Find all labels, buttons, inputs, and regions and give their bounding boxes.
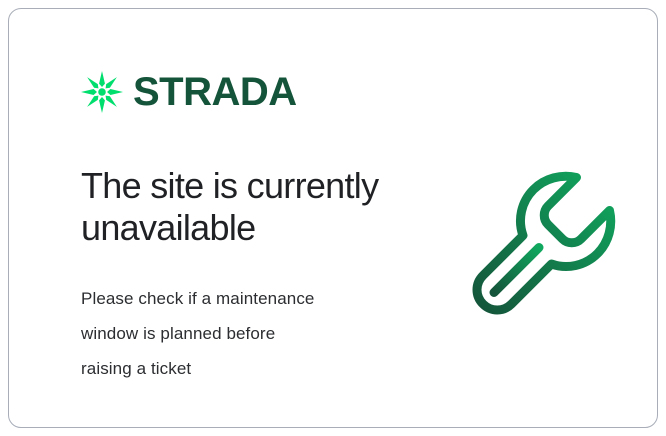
description-line: Please check if a maintenance <box>81 282 391 317</box>
description-line: window is planned before <box>81 317 391 352</box>
brand-logo: STRADA <box>81 69 501 115</box>
wrench-icon <box>461 159 631 329</box>
brand-wordmark: STRADA <box>133 72 297 112</box>
page-description: Please check if a maintenance window is … <box>81 282 391 387</box>
status-card: STRADA The site is currently unavailable… <box>8 8 658 428</box>
page-title: The site is currently unavailable <box>81 165 421 250</box>
description-line: raising a ticket <box>81 352 391 387</box>
asterisk-starburst-icon <box>81 71 123 113</box>
error-page: STRADA The site is currently unavailable… <box>0 0 666 436</box>
content-column: STRADA The site is currently unavailable… <box>81 69 501 386</box>
